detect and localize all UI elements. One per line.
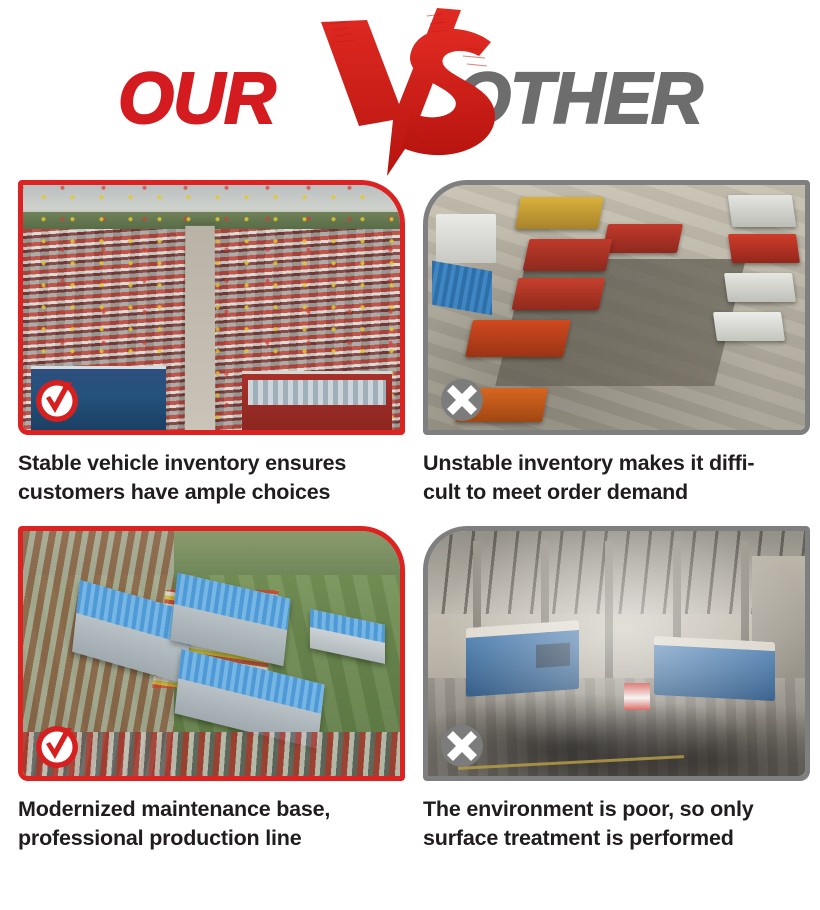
card-ours-inventory: Stable vehicle inventory ensures custome…	[18, 180, 405, 506]
photo-frame-theirs-workshop	[423, 526, 810, 781]
header: OUR	[0, 0, 820, 180]
photo-frame-ours-base	[18, 526, 405, 781]
card-ours-base: Modernized maintenance base, professiona…	[18, 526, 405, 852]
cross-badge-icon	[438, 722, 486, 770]
card-theirs-workshop: The environment is poor, so only surface…	[423, 526, 810, 852]
check-badge-icon	[33, 376, 81, 424]
caption-ours-base: Modernized maintenance base, professiona…	[18, 795, 405, 852]
photo-frame-theirs-inventory	[423, 180, 810, 435]
vs-logo-icon	[315, 8, 505, 176]
comparison-grid: Stable vehicle inventory ensures custome…	[0, 180, 820, 852]
photo-frame-ours-inventory	[18, 180, 405, 435]
card-theirs-inventory: Unstable inventory makes it diffi- cult …	[423, 180, 810, 506]
caption-theirs-workshop: The environment is poor, so only surface…	[423, 795, 810, 852]
caption-ours-inventory: Stable vehicle inventory ensures custome…	[18, 449, 405, 506]
cross-badge-icon	[438, 376, 486, 424]
check-badge-icon	[33, 722, 81, 770]
caption-theirs-inventory: Unstable inventory makes it diffi- cult …	[423, 449, 810, 506]
header-our-label: OUR	[118, 63, 275, 135]
comparison-infographic: OUR	[0, 0, 820, 910]
